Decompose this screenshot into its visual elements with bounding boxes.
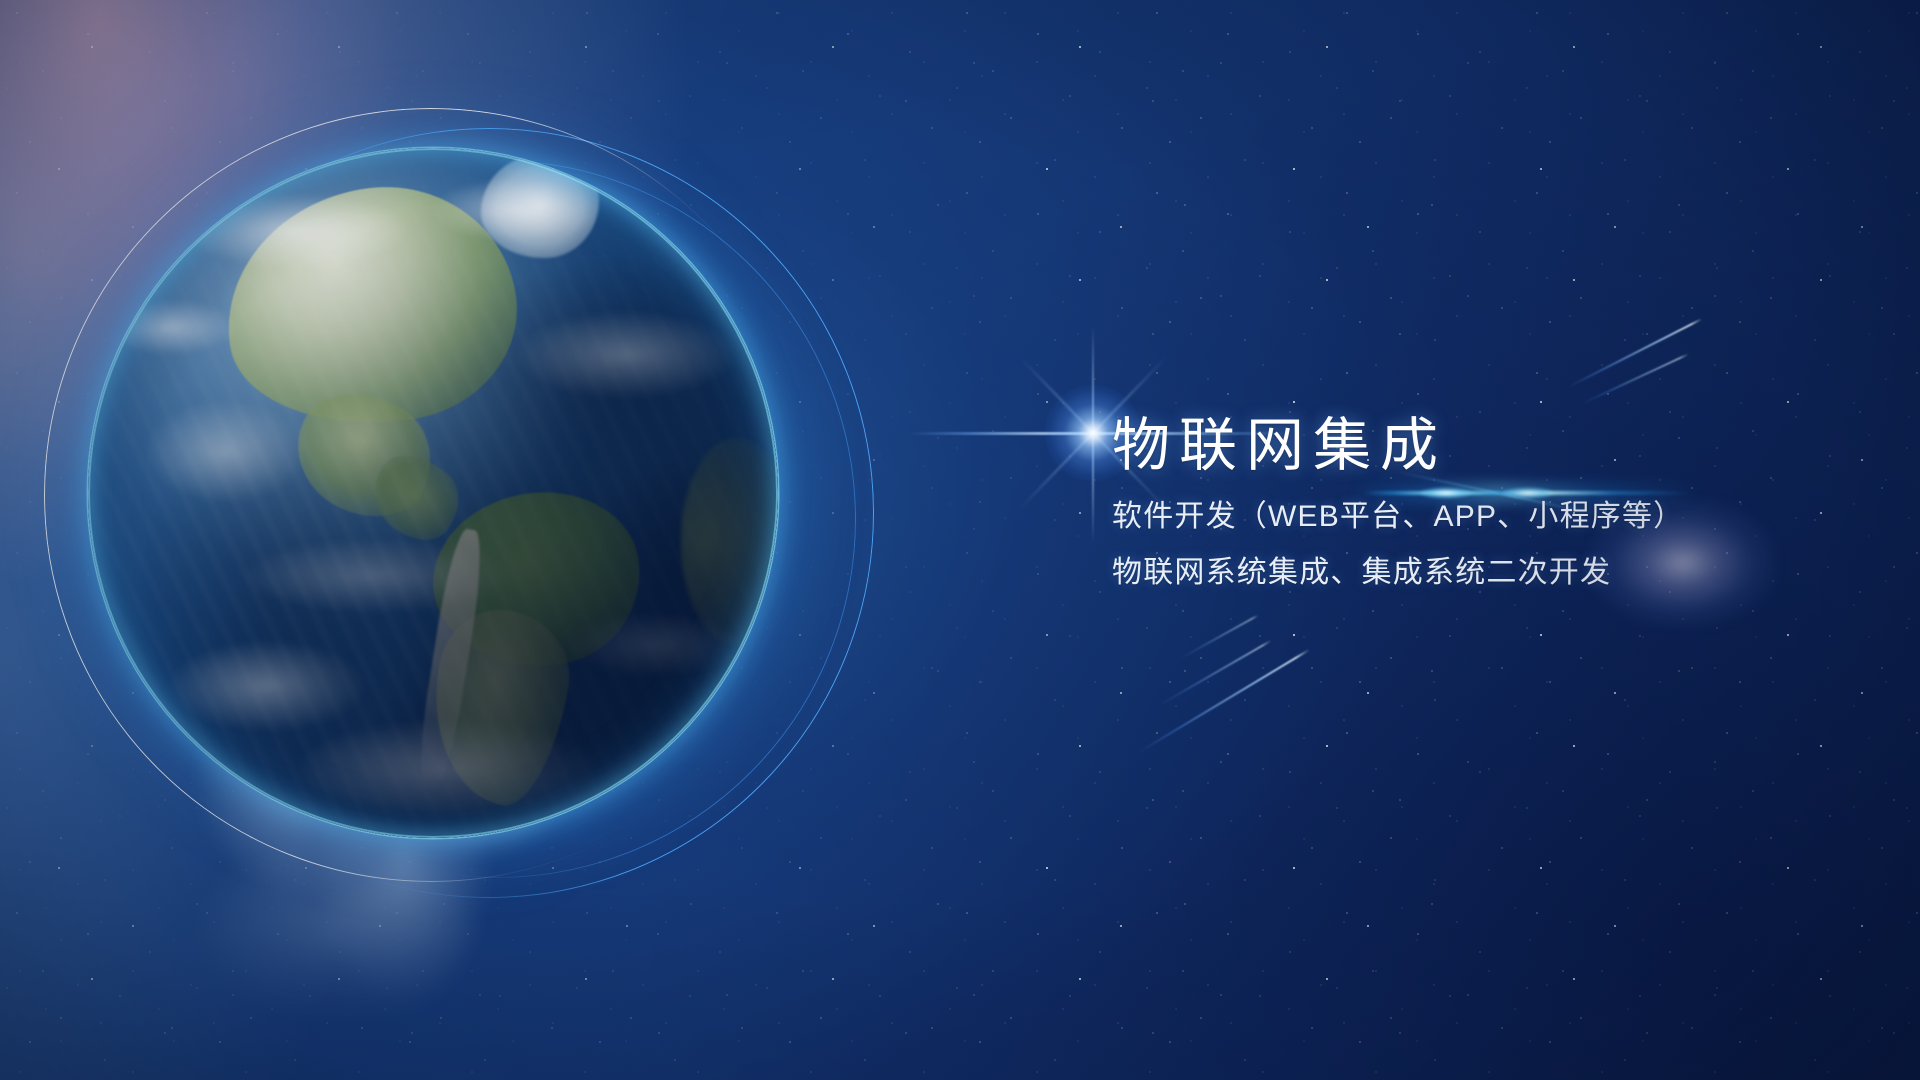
banner-headline: 物联网集成: [1112, 412, 1812, 480]
banner-copy: 物联网集成 软件开发（WEB平台、APP、小程序等） 物联网系统集成、集成系统二…: [1112, 412, 1812, 588]
banner-subline-2: 物联网系统集成、集成系统二次开发: [1112, 558, 1812, 588]
meteor-streak: [1158, 640, 1272, 707]
banner-subline-1: 软件开发（WEB平台、APP、小程序等）: [1112, 502, 1812, 532]
orbit-ring-white: [44, 108, 818, 882]
hero-banner: 物联网集成 软件开发（WEB平台、APP、小程序等） 物联网系统集成、集成系统二…: [0, 0, 1920, 1080]
meteor-streak: [1581, 353, 1689, 405]
